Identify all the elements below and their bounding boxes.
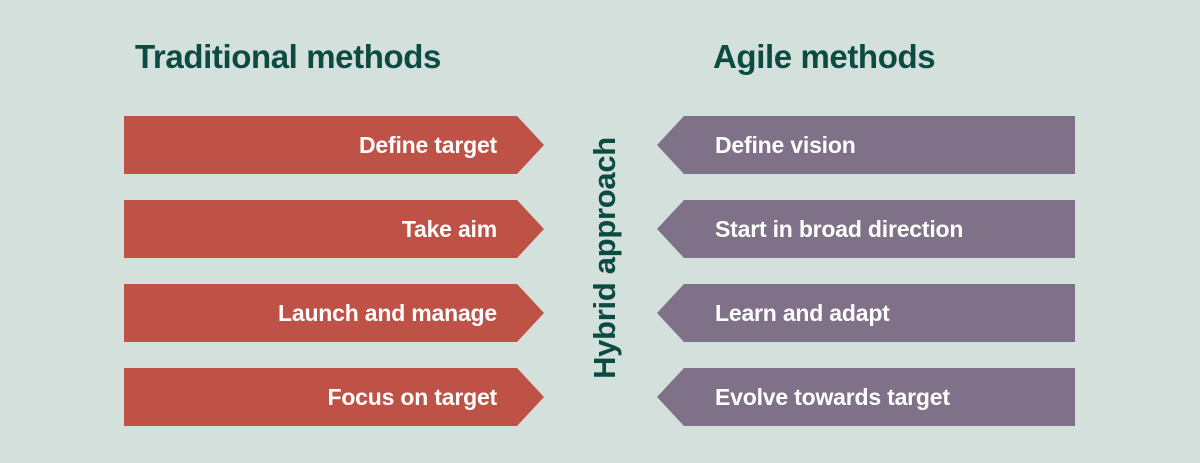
agile-methods-heading: Agile methods	[713, 40, 935, 73]
traditional-step-3-label: Launch and manage	[278, 302, 497, 325]
agile-step-4-label: Evolve towards target	[715, 386, 950, 409]
traditional-step-1-arrow: Define target	[124, 116, 544, 174]
traditional-step-3-arrow: Launch and manage	[124, 284, 544, 342]
traditional-step-4-arrow: Focus on target	[124, 368, 544, 426]
traditional-step-1-label: Define target	[359, 134, 497, 157]
traditional-methods-heading: Traditional methods	[135, 40, 441, 73]
traditional-step-4-label: Focus on target	[327, 386, 497, 409]
agile-step-2-arrow: Start in broad direction	[657, 200, 1075, 258]
agile-step-2-label: Start in broad direction	[715, 218, 963, 241]
traditional-step-2-arrow: Take aim	[124, 200, 544, 258]
agile-step-3-arrow: Learn and adapt	[657, 284, 1075, 342]
agile-step-3-label: Learn and adapt	[715, 302, 890, 325]
diagram-canvas: Traditional methods Agile methods Define…	[0, 0, 1200, 463]
agile-step-1-label: Define vision	[715, 134, 856, 157]
agile-step-1-arrow: Define vision	[657, 116, 1075, 174]
agile-step-4-arrow: Evolve towards target	[657, 368, 1075, 426]
hybrid-approach-caption: Hybrid approach	[578, 93, 630, 423]
traditional-step-2-label: Take aim	[402, 218, 497, 241]
